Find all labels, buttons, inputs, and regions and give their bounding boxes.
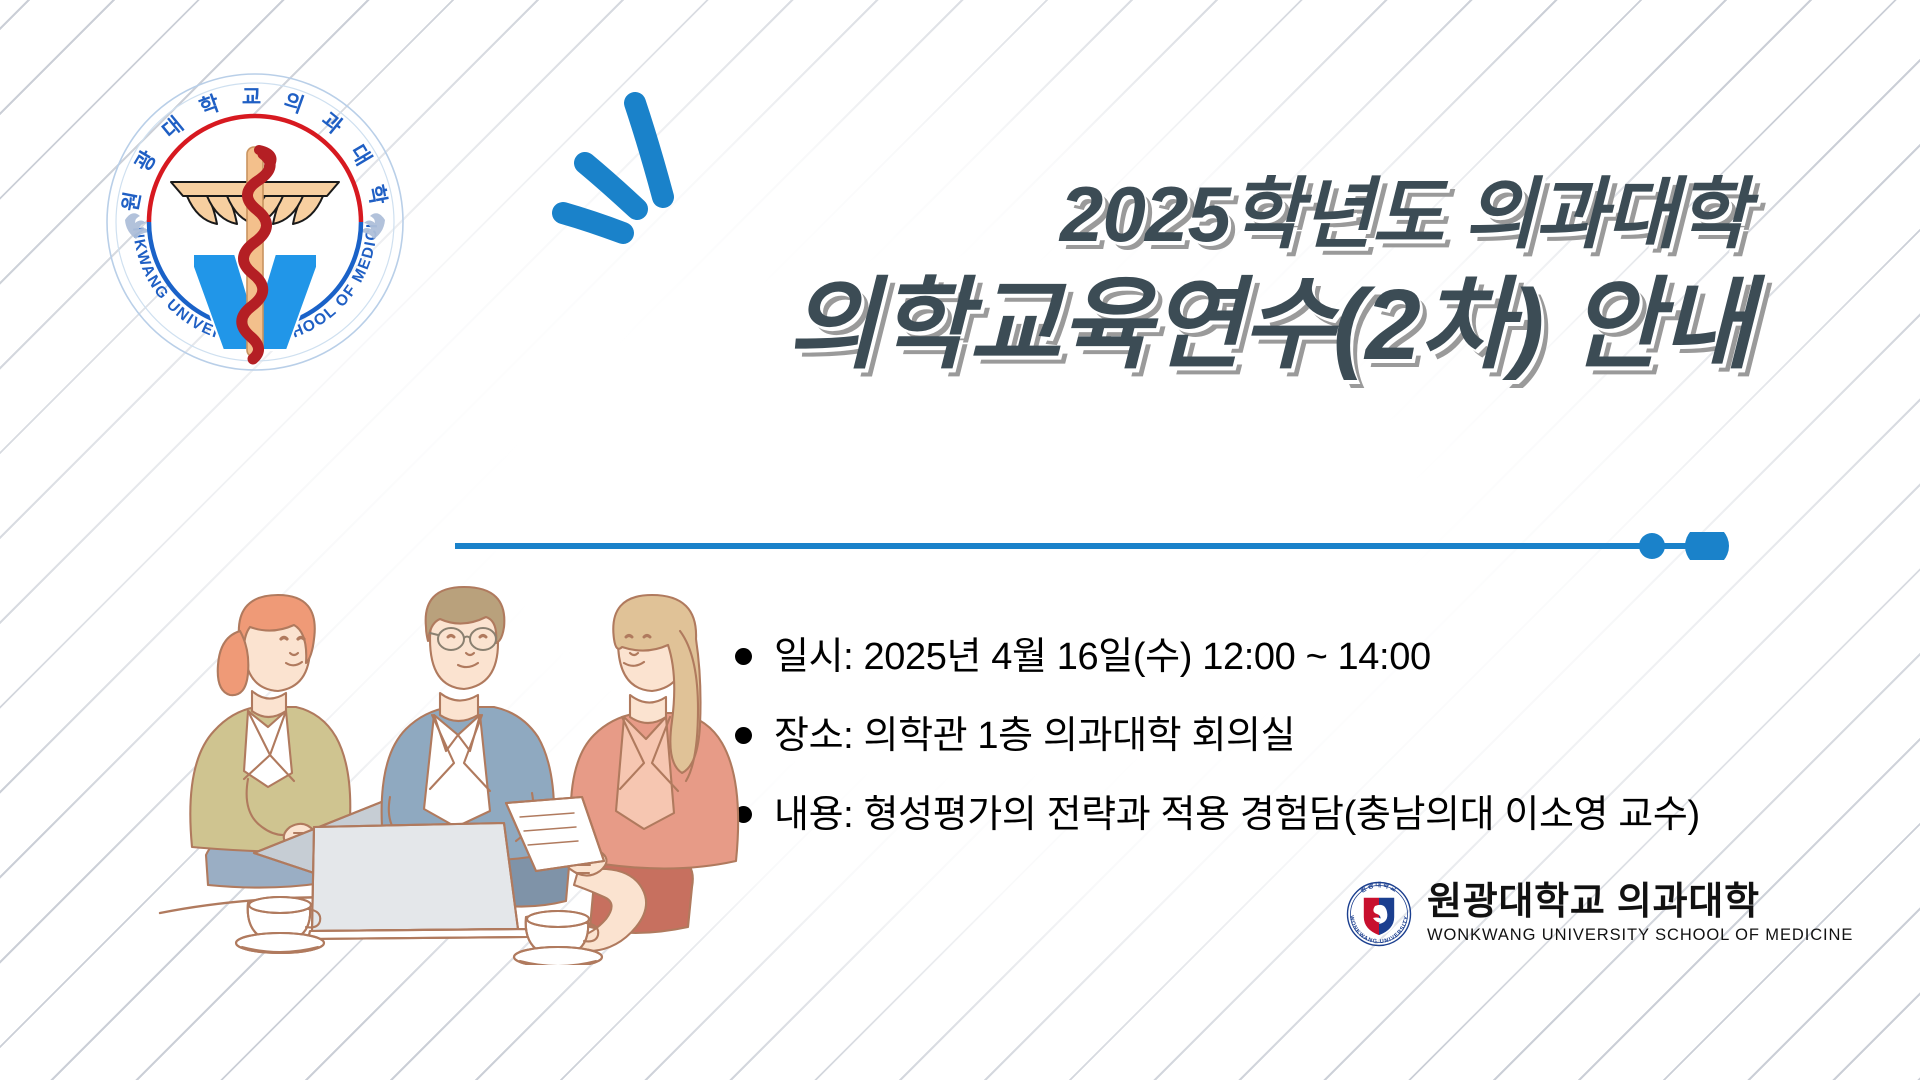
- poster-title: 2025학년도 의과대학 의학교육연수(2차) 안내: [330, 175, 1760, 375]
- footer-logo-text: 원광대학교 의과대학 WONKWANG UNIVERSITY SCHOOL OF…: [1427, 883, 1853, 944]
- info-list: 일시: 2025년 4월 16일(수) 12:00 ~ 14:00 장소: 의학…: [735, 625, 1855, 862]
- title-line-2: 의학교육연수(2차) 안내: [330, 275, 1760, 375]
- footer-korean-name: 원광대학교 의과대학: [1427, 883, 1853, 923]
- three-people-meeting-illustration: [140, 565, 740, 965]
- poster-canvas: 원 광 대 학 교 의 과 대 학 WONKWANG UNIVERSITY SC…: [0, 0, 1920, 1080]
- footer-university-logo: 원광대학교 WONKWANG UNIVERSITY 원광대학교 의과대학 WON…: [1345, 880, 1853, 948]
- info-item-text: 내용: 형성평가의 전략과 적용 경험담(충남의대 이소영 교수): [774, 783, 1700, 838]
- wonkwang-shield-icon: 원광대학교 WONKWANG UNIVERSITY: [1345, 880, 1413, 948]
- divider-large-dot: [1685, 532, 1729, 560]
- footer-english-name: WONKWANG UNIVERSITY SCHOOL OF MEDICINE: [1427, 926, 1853, 944]
- divider: [455, 532, 1730, 560]
- svg-text:원광대학교: 원광대학교: [1359, 881, 1399, 894]
- divider-small-dot: [1639, 533, 1665, 559]
- info-item-text: 일시: 2025년 4월 16일(수) 12:00 ~ 14:00: [774, 625, 1431, 680]
- info-item-text: 장소: 의학관 1층 의과대학 회의실: [774, 704, 1295, 759]
- list-item: 일시: 2025년 4월 16일(수) 12:00 ~ 14:00: [735, 625, 1855, 680]
- list-item: 내용: 형성평가의 전략과 적용 경험담(충남의대 이소영 교수): [735, 783, 1855, 838]
- list-item: 장소: 의학관 1층 의과대학 회의실: [735, 704, 1855, 759]
- title-line-1: 2025학년도 의과대학: [330, 175, 1760, 253]
